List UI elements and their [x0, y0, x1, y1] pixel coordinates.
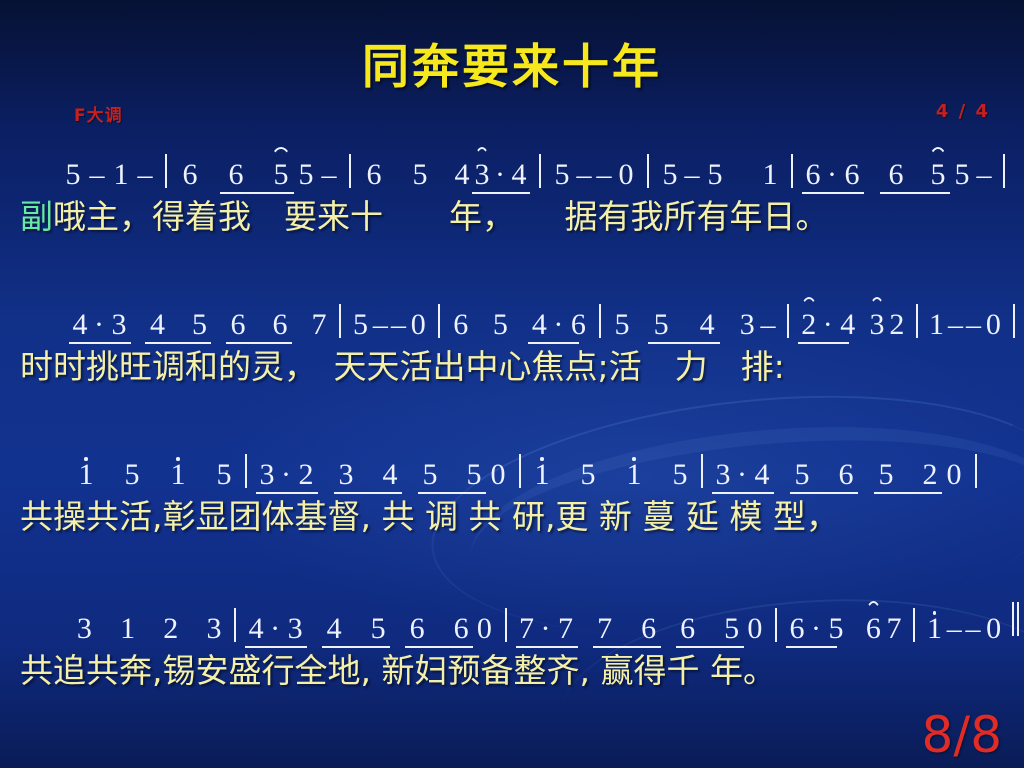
music-system-3: 1 5 1 5 3·2 34 550 1 5 1 5 3·4 56 520 共操… — [0, 444, 1024, 538]
barline — [339, 304, 341, 338]
time-signature-label: 4 / 4 — [936, 101, 990, 122]
lyrics-text: 共追共奔,锡安盛行全地, 新妇预备整齐, 赢得千 年。 — [20, 651, 776, 690]
barline — [519, 454, 521, 488]
lyrics-line-3: 共操共活,彰显团体基督, 共 调 共 研,更 新 蔓 延 模 型， — [0, 490, 1024, 538]
key-signature-label: F大调 — [74, 101, 123, 126]
song-title: 同奔要来十年 — [0, 28, 1024, 97]
barline — [349, 154, 351, 188]
barline — [438, 304, 440, 338]
barline — [505, 608, 507, 642]
page-number: 8/8 — [922, 710, 1002, 760]
music-system-2: 4·3 45 66 7 5––0 6 5 4·6 5 54 3– 2·4 32 … — [0, 294, 1024, 388]
lyrics-text: 共操共活,彰显团体基督, 共 调 共 研,更 新 蔓 延 模 型， — [20, 497, 839, 536]
barline — [234, 608, 236, 642]
barline — [787, 304, 789, 338]
barline — [165, 154, 167, 188]
lyrics-line-2: 时时挑旺调和的灵， 天天活出中心焦点;活 力 排: — [0, 340, 1024, 388]
barline — [701, 454, 703, 488]
lyrics-line-4: 共追共奔,锡安盛行全地, 新妇预备整齐, 赢得千 年。 — [0, 644, 1024, 692]
music-system-1: 5–1– 6 655– 6 5 43·4 5––0 5–51 6·6 655– … — [0, 144, 1024, 238]
lyrics-text: 哦主，得着我 要来十 年， 据有我所有年日。 — [53, 197, 829, 236]
barline — [245, 454, 247, 488]
lyrics-text: 时时挑旺调和的灵， 天天活出中心焦点;活 力 排: — [20, 347, 785, 386]
barline — [975, 454, 977, 488]
lyrics-line-1: 副哦主，得着我 要来十 年， 据有我所有年日。 — [0, 190, 1024, 238]
barline — [775, 608, 777, 642]
slide-canvas: 同奔要来十年 F大调 4 / 4 5–1– 6 655– 6 5 43·4 5–… — [0, 0, 1024, 768]
lyrics-prefix-marker: 副 — [20, 197, 53, 236]
barline — [916, 304, 918, 338]
notation-line-1: 5–1– 6 655– 6 5 43·4 5––0 5–51 6·6 655– — [0, 144, 1024, 190]
barline — [1003, 154, 1005, 188]
barline — [599, 304, 601, 338]
barline — [913, 608, 915, 642]
final-barline — [1012, 602, 1022, 642]
barline — [1013, 304, 1015, 338]
notation-line-3: 1 5 1 5 3·2 34 550 1 5 1 5 3·4 56 520 — [0, 444, 1024, 490]
barline — [791, 154, 793, 188]
notation-line-4: 3 1 2 3 4·3 45 660 7·7 76 650 6·5 67 1––… — [0, 598, 1024, 644]
music-system-4: 3 1 2 3 4·3 45 660 7·7 76 650 6·5 67 1––… — [0, 598, 1024, 692]
barline — [539, 154, 541, 188]
notation-line-2: 4·3 45 66 7 5––0 6 5 4·6 5 54 3– 2·4 32 … — [0, 294, 1024, 340]
barline — [647, 154, 649, 188]
